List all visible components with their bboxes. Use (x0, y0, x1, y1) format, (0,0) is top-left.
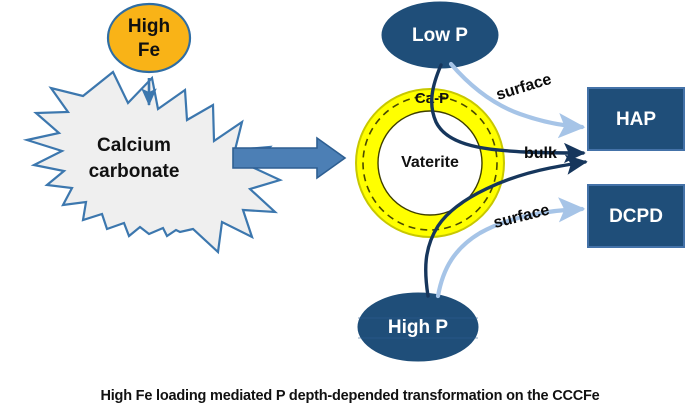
figure-caption: High Fe loading mediated P depth-depende… (100, 388, 599, 404)
high-fe-label-line1: High (128, 16, 170, 37)
figure-root: Calcium carbonate High Fe Ca-P Vaterite … (0, 0, 700, 411)
high-p-label: High P (388, 317, 448, 338)
edge-label-bulk: bulk (524, 145, 557, 162)
dcpd-label: DCPD (609, 206, 663, 227)
caption-bar: High Fe loading mediated P depth-depende… (0, 387, 700, 405)
edge-label-surface-bottom: surface (492, 202, 551, 232)
node-high-fe[interactable]: High Fe (108, 4, 190, 72)
node-dcpd[interactable]: DCPD (588, 185, 684, 247)
node-vaterite-particle[interactable]: Ca-P Vaterite (356, 89, 504, 237)
hap-label: HAP (616, 109, 656, 130)
calcium-carbonate-label-line2: carbonate (89, 161, 180, 182)
node-high-p[interactable]: High P (358, 293, 478, 361)
edge-label-surface-top: surface (494, 71, 554, 104)
low-p-label: Low P (412, 25, 468, 46)
node-low-p[interactable]: Low P (382, 2, 498, 68)
high-fe-label-line2: Fe (138, 40, 160, 61)
particle-core-label: Vaterite (401, 154, 459, 171)
node-hap[interactable]: HAP (588, 88, 684, 150)
high-fe-ellipse (108, 4, 190, 72)
calcium-carbonate-label-line1: Calcium (97, 135, 171, 156)
process-diagram: Calcium carbonate High Fe Ca-P Vaterite … (0, 0, 700, 411)
